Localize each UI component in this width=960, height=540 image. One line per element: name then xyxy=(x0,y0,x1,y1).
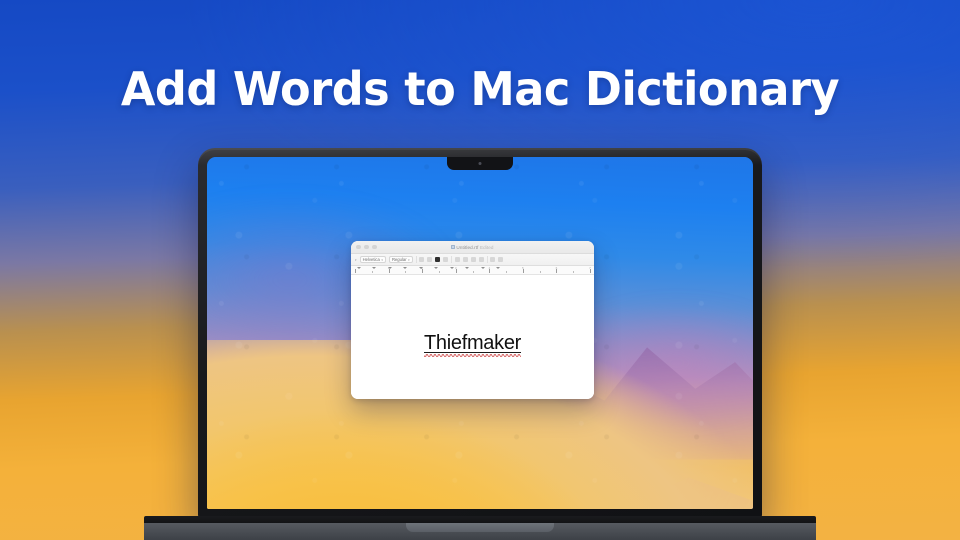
ruler-tab-stop[interactable] xyxy=(450,267,454,269)
document-body[interactable]: Thiefmaker xyxy=(351,275,594,399)
window-title-text: Untitled.rtf xyxy=(456,245,478,250)
close-button[interactable] xyxy=(356,245,361,250)
line-spacing-icon[interactable] xyxy=(498,257,503,262)
font-family-label: Helvetica xyxy=(363,257,380,262)
font-style-select[interactable]: Regular ▾ xyxy=(389,256,413,264)
font-family-select[interactable]: Helvetica ▾ xyxy=(360,256,386,264)
window-titlebar[interactable]: Untitled.rtf Edited xyxy=(351,241,594,254)
font-style-label: Regular xyxy=(392,257,407,262)
chevron-down-icon: ▾ xyxy=(381,258,383,262)
zoom-button[interactable] xyxy=(372,245,377,250)
document-text[interactable]: Thiefmaker xyxy=(424,332,521,357)
align-right-icon[interactable] xyxy=(471,257,476,262)
italic-icon[interactable] xyxy=(427,257,432,262)
align-left-icon[interactable] xyxy=(455,257,460,262)
laptop-base-lip xyxy=(144,516,816,523)
ruler-number: 7 xyxy=(589,266,591,270)
ruler-tab-stop[interactable] xyxy=(403,267,407,269)
ruler-number: 6 xyxy=(556,266,558,270)
highlight-icon[interactable] xyxy=(443,257,448,262)
document-ruler[interactable]: 1234567 xyxy=(351,266,594,275)
traffic-lights xyxy=(351,245,377,250)
laptop-base-notch xyxy=(406,523,554,532)
ruler-number: 3 xyxy=(455,266,457,270)
ruler-tab-stop[interactable] xyxy=(388,267,392,269)
page-title: Add Words to Mac Dictionary xyxy=(14,62,945,116)
format-toolbar[interactable]: ▾ Helvetica ▾ Regular ▾ xyxy=(351,254,594,266)
chevron-down-icon: ▾ xyxy=(408,258,410,262)
macbook-device: Untitled.rtf Edited ▾ Helvetica ▾ Regula… xyxy=(198,148,762,520)
ruler-tab-stop[interactable] xyxy=(481,267,485,269)
align-center-icon[interactable] xyxy=(463,257,468,262)
ruler-tab-stop[interactable] xyxy=(357,267,361,269)
laptop-screen: Untitled.rtf Edited ▾ Helvetica ▾ Regula… xyxy=(207,157,753,509)
document-word: Thiefmaker xyxy=(424,332,521,354)
minimize-button[interactable] xyxy=(364,245,369,250)
list-icon[interactable] xyxy=(490,257,495,262)
ruler-number: 4 xyxy=(488,266,490,270)
ruler-tab-stop[interactable] xyxy=(496,267,500,269)
document-icon xyxy=(451,245,455,250)
align-justify-icon[interactable] xyxy=(479,257,484,262)
ruler-number: 5 xyxy=(522,266,524,270)
laptop-base xyxy=(144,516,816,540)
ruler-tab-stop[interactable] xyxy=(465,267,469,269)
ruler-tab-stop[interactable] xyxy=(434,267,438,269)
camera-dot-icon xyxy=(479,162,482,165)
window-title-status: Edited xyxy=(480,245,494,250)
textedit-window[interactable]: Untitled.rtf Edited ▾ Helvetica ▾ Regula… xyxy=(351,241,594,399)
laptop-lid: Untitled.rtf Edited ▾ Helvetica ▾ Regula… xyxy=(198,148,762,520)
bold-icon[interactable] xyxy=(419,257,424,262)
ruler-tab-stop[interactable] xyxy=(372,267,376,269)
style-chevron-icon[interactable]: ▾ xyxy=(355,258,357,262)
window-title: Untitled.rtf Edited xyxy=(351,245,594,250)
text-underline xyxy=(424,352,521,353)
ruler-tab-stop[interactable] xyxy=(419,267,423,269)
text-color-icon[interactable] xyxy=(435,257,440,262)
